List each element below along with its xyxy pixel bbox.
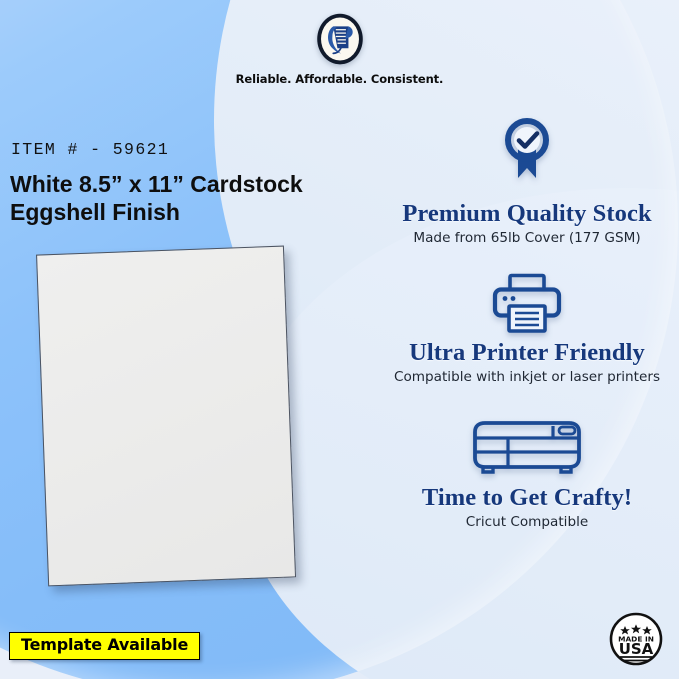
feature-list: Premium Quality Stock Made from 65lb Cov… xyxy=(382,118,672,549)
brand-header: Reliable. Affordable. Consistent. xyxy=(0,12,679,86)
feature-premium-quality-stock: Premium Quality Stock Made from 65lb Cov… xyxy=(382,118,672,247)
feature-ultra-printer-friendly: Ultra Printer Friendly Compatible with i… xyxy=(382,273,672,386)
cardstock-sheet-surface xyxy=(36,246,296,587)
product-infographic-canvas: Reliable. Affordable. Consistent. ITEM #… xyxy=(0,0,679,679)
feature-title: Time to Get Crafty! xyxy=(382,484,672,513)
cardstock-sheet xyxy=(36,246,294,585)
feature-time-to-get-crafty: Time to Get Crafty! Cricut Compatible xyxy=(382,418,672,531)
product-title-line-1: White 8.5” x 11” Cardstock xyxy=(10,170,370,198)
feature-subtitle: Cricut Compatible xyxy=(382,514,672,531)
template-available-badge[interactable]: Template Available xyxy=(9,632,200,660)
feature-title: Ultra Printer Friendly xyxy=(382,339,672,368)
brand-tagline: Reliable. Affordable. Consistent. xyxy=(0,72,679,86)
made-in-usa-stamp-icon: MADE IN USA xyxy=(608,611,664,667)
feature-subtitle: Made from 65lb Cover (177 GSM) xyxy=(382,230,672,247)
page-title: White 8.5” x 11” Cardstock Eggshell Fini… xyxy=(10,170,370,227)
cricut-cutting-machine-icon xyxy=(465,418,589,480)
item-number: ITEM # - 59621 xyxy=(11,140,169,159)
document-scroll-logo-icon xyxy=(313,12,367,66)
usa-label: USA xyxy=(619,640,654,658)
printer-icon xyxy=(489,273,565,335)
feature-subtitle: Compatible with inkjet or laser printers xyxy=(382,369,672,386)
feature-title: Premium Quality Stock xyxy=(382,200,672,229)
award-ribbon-check-icon xyxy=(498,118,556,196)
product-title-line-2: Eggshell Finish xyxy=(10,198,370,226)
